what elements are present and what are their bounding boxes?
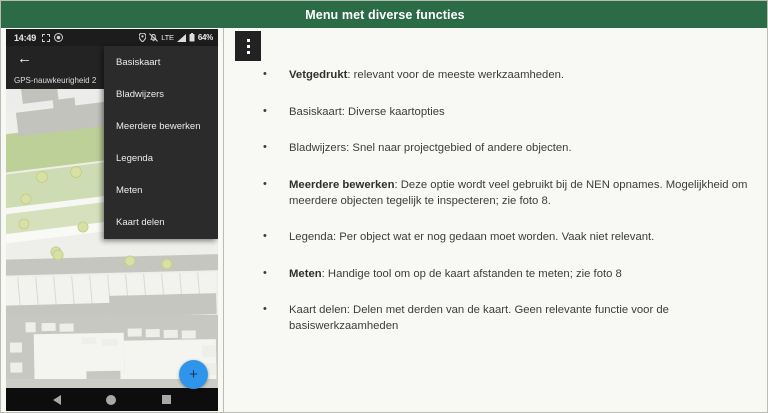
bullet-glyph: •	[257, 177, 289, 209]
dot	[247, 45, 250, 48]
header-banner: Menu met diverse functies	[1, 1, 768, 29]
list-item-bold: Meten	[289, 268, 322, 280]
menu-item-label: Meerdere bewerken	[116, 121, 201, 132]
bullet-glyph: •	[257, 266, 289, 282]
status-time: 14:49	[14, 33, 36, 43]
menu-item-meten[interactable]: Meten	[104, 174, 218, 206]
page-title: Menu met diverse functies	[305, 8, 465, 22]
list-item-text: Basiskaart: Diverse kaartopties	[289, 104, 757, 120]
menu-item-legenda[interactable]: Legenda	[104, 142, 218, 174]
battery-percent-label: 64%	[198, 33, 213, 42]
menu-item-label: Bladwijzers	[116, 89, 164, 100]
menu-item-basiskaart[interactable]: Basiskaart	[104, 46, 218, 78]
list-item: • Kaart delen: Delen met derden van de k…	[257, 302, 757, 334]
list-item-bold: Vetgedrukt	[289, 69, 347, 81]
list-item-text: Vetgedrukt: relevant voor de meeste werk…	[289, 67, 757, 83]
list-item-text: Meten: Handige tool om op de kaart afsta…	[289, 266, 757, 282]
recents-square-icon[interactable]	[162, 395, 171, 404]
list-item-text: Meerdere bewerken: Deze optie wordt veel…	[289, 177, 757, 209]
home-circle-icon[interactable]	[106, 395, 116, 405]
list-item-rest: Basiskaart: Diverse kaartopties	[289, 106, 445, 118]
three-dots-vertical-icon[interactable]	[235, 31, 261, 61]
location-pin-icon	[139, 33, 146, 42]
add-feature-fab[interactable]: +	[179, 360, 208, 389]
bullet-list: • Vetgedrukt: relevant voor de meeste we…	[257, 67, 757, 355]
network-type-label: LTE	[161, 33, 174, 42]
phone-screenshot: + 14:49	[6, 29, 218, 411]
screenshot-icon	[42, 34, 50, 42]
list-item-rest: Kaart delen: Delen met derden van de kaa…	[289, 304, 669, 332]
bullet-glyph: •	[257, 302, 289, 334]
menu-item-label: Basiskaart	[116, 57, 160, 68]
bullet-glyph: •	[257, 140, 289, 156]
list-item-text: Bladwijzers: Snel naar projectgebied of …	[289, 140, 757, 156]
list-item: • Meten: Handige tool om op de kaart afs…	[257, 266, 757, 282]
list-item-text: Legenda: Per object wat er nog gedaan mo…	[289, 229, 757, 245]
signal-bars-icon	[177, 34, 186, 42]
bell-muted-icon	[149, 33, 158, 42]
plus-icon: +	[179, 360, 208, 389]
list-item-rest: : relevant voor de meeste werkzaamheden.	[347, 69, 564, 81]
bullet-glyph: •	[257, 104, 289, 120]
menu-item-meerdere-bewerken[interactable]: Meerdere bewerken	[104, 110, 218, 142]
list-item: • Meerdere bewerken: Deze optie wordt ve…	[257, 177, 757, 209]
gps-accuracy-label: GPS-nauwkeurigheid 2	[14, 76, 96, 85]
list-item: • Legenda: Per object wat er nog gedaan …	[257, 229, 757, 245]
bullet-glyph: •	[257, 229, 289, 245]
menu-item-label: Kaart delen	[116, 217, 165, 228]
list-item-rest: Bladwijzers: Snel naar projectgebied of …	[289, 142, 572, 154]
list-item-rest: Legenda: Per object wat er nog gedaan mo…	[289, 231, 654, 243]
back-triangle-icon[interactable]	[53, 395, 61, 405]
android-status-bar: 14:49	[6, 29, 218, 46]
battery-icon	[189, 33, 195, 42]
list-item: • Basiskaart: Diverse kaartopties	[257, 104, 757, 120]
list-item-rest: : Handige tool om op de kaart afstanden …	[322, 268, 622, 280]
slide-page: Menu met diverse functies	[0, 0, 768, 413]
menu-item-label: Legenda	[116, 153, 153, 164]
list-item: • Vetgedrukt: relevant voor de meeste we…	[257, 67, 757, 83]
list-item: • Bladwijzers: Snel naar projectgebied o…	[257, 140, 757, 156]
dot	[247, 51, 250, 54]
status-left-icon-group	[42, 33, 63, 42]
android-nav-bar	[6, 388, 218, 411]
back-arrow-icon[interactable]: ←	[17, 51, 32, 66]
list-item-bold: Meerdere bewerken	[289, 179, 395, 191]
menu-item-kaart-delen[interactable]: Kaart delen	[104, 206, 218, 238]
dot	[247, 39, 250, 42]
notes-panel: • Vetgedrukt: relevant voor de meeste we…	[224, 28, 768, 413]
record-icon	[54, 33, 63, 42]
menu-item-bladwijzers[interactable]: Bladwijzers	[104, 78, 218, 110]
bullet-glyph: •	[257, 67, 289, 83]
overflow-menu-panel[interactable]: Basiskaart Bladwijzers Meerdere bewerken…	[104, 46, 218, 239]
menu-item-label: Meten	[116, 185, 142, 196]
content-area: + 14:49	[1, 28, 768, 413]
gps-accuracy-chip: GPS-nauwkeurigheid 2	[6, 72, 120, 89]
status-right-icon-group: LTE 64%	[139, 29, 213, 46]
list-item-text: Kaart delen: Delen met derden van de kaa…	[289, 302, 757, 334]
